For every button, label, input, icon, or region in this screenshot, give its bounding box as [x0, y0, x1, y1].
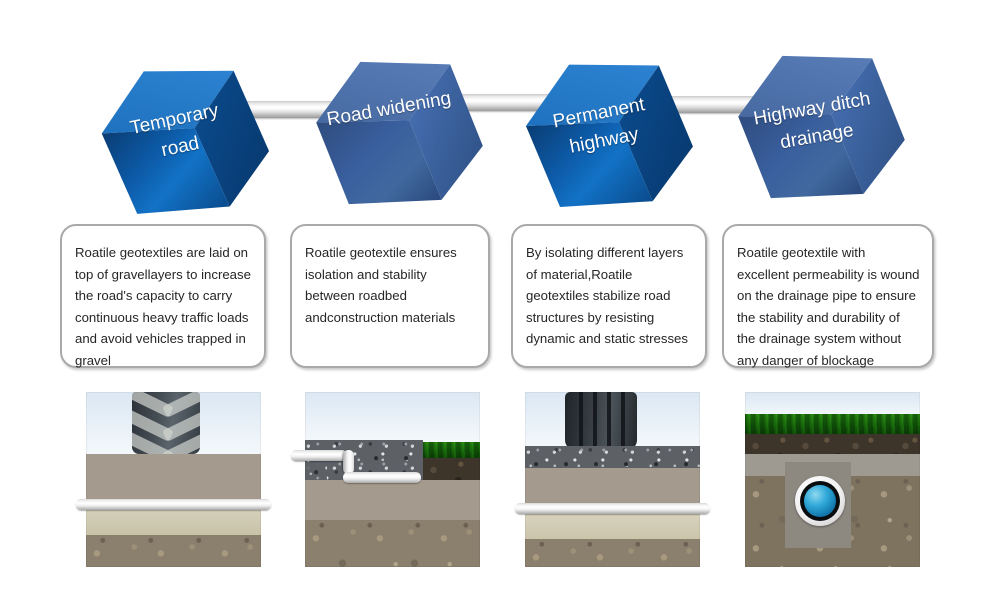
- subgrade-layer: [305, 520, 480, 567]
- gravel-layer: [86, 454, 261, 502]
- asphalt-layer: [525, 446, 700, 468]
- cube-faces: [720, 28, 926, 234]
- geotextile-bar-upper: [291, 450, 347, 461]
- gravel-layer: [305, 480, 480, 522]
- photo-frame: [745, 392, 920, 567]
- truck-tire-icon: [565, 392, 637, 450]
- photo-road-widening: [305, 392, 480, 567]
- tractor-tire-icon: [132, 392, 200, 454]
- cube-front-face: [720, 28, 926, 234]
- photo-highway-ditch-drainage: [745, 392, 920, 567]
- topsoil-layer: [423, 458, 480, 480]
- gravel-layer: [525, 468, 700, 506]
- subgrade-layer: [525, 539, 700, 567]
- step-cube-highway-ditch-drainage[interactable]: Highway ditch drainage: [720, 28, 926, 234]
- description-box-permanent-highway: By isolating different layers of materia…: [511, 224, 707, 368]
- geotextile-bar-lower: [343, 472, 421, 483]
- cube-faces: [507, 35, 716, 244]
- photo-frame: [86, 392, 261, 567]
- subbase-layer: [86, 507, 261, 535]
- cube-front-face: [81, 39, 292, 250]
- description-box-highway-ditch-drainage: Roatile geotextile with excellent permea…: [722, 224, 934, 368]
- geotextile-bar: [515, 503, 710, 514]
- drainage-pipe-icon: [804, 485, 836, 517]
- description-box-temporary-road: Roatile geotextiles are laid on top of g…: [60, 224, 266, 368]
- cube-front-face: [298, 34, 504, 240]
- infographic-canvas: Temporary road: [0, 0, 982, 611]
- description-box-road-widening: Roatile geotextile ensures isolation and…: [290, 224, 490, 368]
- topsoil-layer: [745, 434, 920, 456]
- sky-band: [305, 392, 480, 442]
- subgrade-layer: [86, 535, 261, 567]
- geotextile-bar: [76, 499, 271, 510]
- photo-frame: [525, 392, 700, 567]
- photo-permanent-highway: [525, 392, 700, 567]
- step-cube-road-widening[interactable]: Road widening: [298, 34, 504, 240]
- photo-temporary-road: [86, 392, 261, 567]
- subbase-layer: [525, 511, 700, 539]
- grass-layer: [745, 414, 920, 436]
- step-cube-permanent-highway[interactable]: Permanent highway: [507, 35, 716, 244]
- cube-front-face: [507, 35, 716, 244]
- step-cube-temporary-road[interactable]: Temporary road: [81, 39, 292, 250]
- geotextile-bar-riser: [343, 450, 354, 474]
- cube-faces: [81, 39, 292, 250]
- cube-faces: [298, 34, 504, 240]
